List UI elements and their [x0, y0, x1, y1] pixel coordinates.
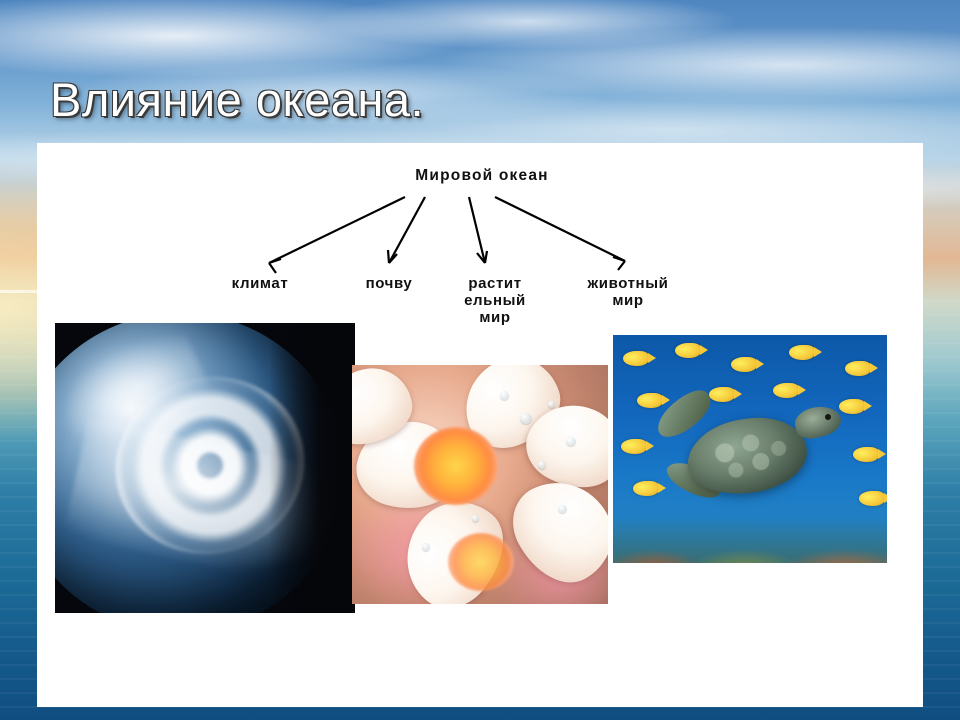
- tropical-fish: [839, 399, 865, 414]
- tropical-fish: [773, 383, 799, 398]
- tropical-fish: [845, 361, 871, 376]
- tropical-fish: [709, 387, 735, 402]
- tropical-fish: [789, 345, 815, 360]
- slide: Влияние океана. Мировой океан климат по: [0, 0, 960, 720]
- photo-sea-turtle: [613, 335, 887, 563]
- tropical-fish: [853, 447, 879, 462]
- diagram-root-label: Мировой океан: [387, 167, 577, 184]
- content-panel: Мировой океан климат почву растит ельный…: [37, 143, 923, 707]
- diagram-branch-label-pochvu: почву: [329, 275, 449, 292]
- flower-center-yellow: [414, 427, 498, 505]
- water-drop: [422, 543, 430, 551]
- photo-plumeria-flowers: [352, 365, 608, 604]
- tropical-fish: [731, 357, 757, 372]
- flower-center-secondary: [448, 533, 514, 591]
- water-drop: [558, 505, 567, 513]
- shell-pattern: [689, 418, 805, 494]
- diagram-branch-label-rastitelny-mir: растит ельный мир: [449, 275, 541, 326]
- tropical-fish: [859, 491, 885, 506]
- water-drop: [520, 413, 532, 424]
- diagram-branch-label-klimat: климат: [195, 275, 325, 292]
- slide-title: Влияние океана.: [50, 72, 424, 127]
- water-drop: [472, 515, 479, 522]
- tropical-fish: [633, 481, 659, 496]
- water-drop: [500, 391, 509, 400]
- tropical-fish: [623, 351, 649, 366]
- tropical-fish: [621, 439, 647, 454]
- water-drop: [548, 401, 555, 408]
- tropical-fish: [637, 393, 663, 408]
- photo-hurricane-from-space: [55, 323, 355, 613]
- tropical-fish: [675, 343, 701, 358]
- turtle-head: [792, 403, 843, 442]
- turtle-eye: [825, 414, 831, 420]
- concept-diagram: Мировой океан климат почву растит ельный…: [177, 165, 757, 345]
- water-drop: [538, 461, 546, 469]
- diagram-branch-label-zhivotny-mir: животный мир: [565, 275, 691, 309]
- water-drop: [566, 437, 576, 446]
- space-shadow: [269, 323, 355, 613]
- coral-reef: [613, 517, 887, 563]
